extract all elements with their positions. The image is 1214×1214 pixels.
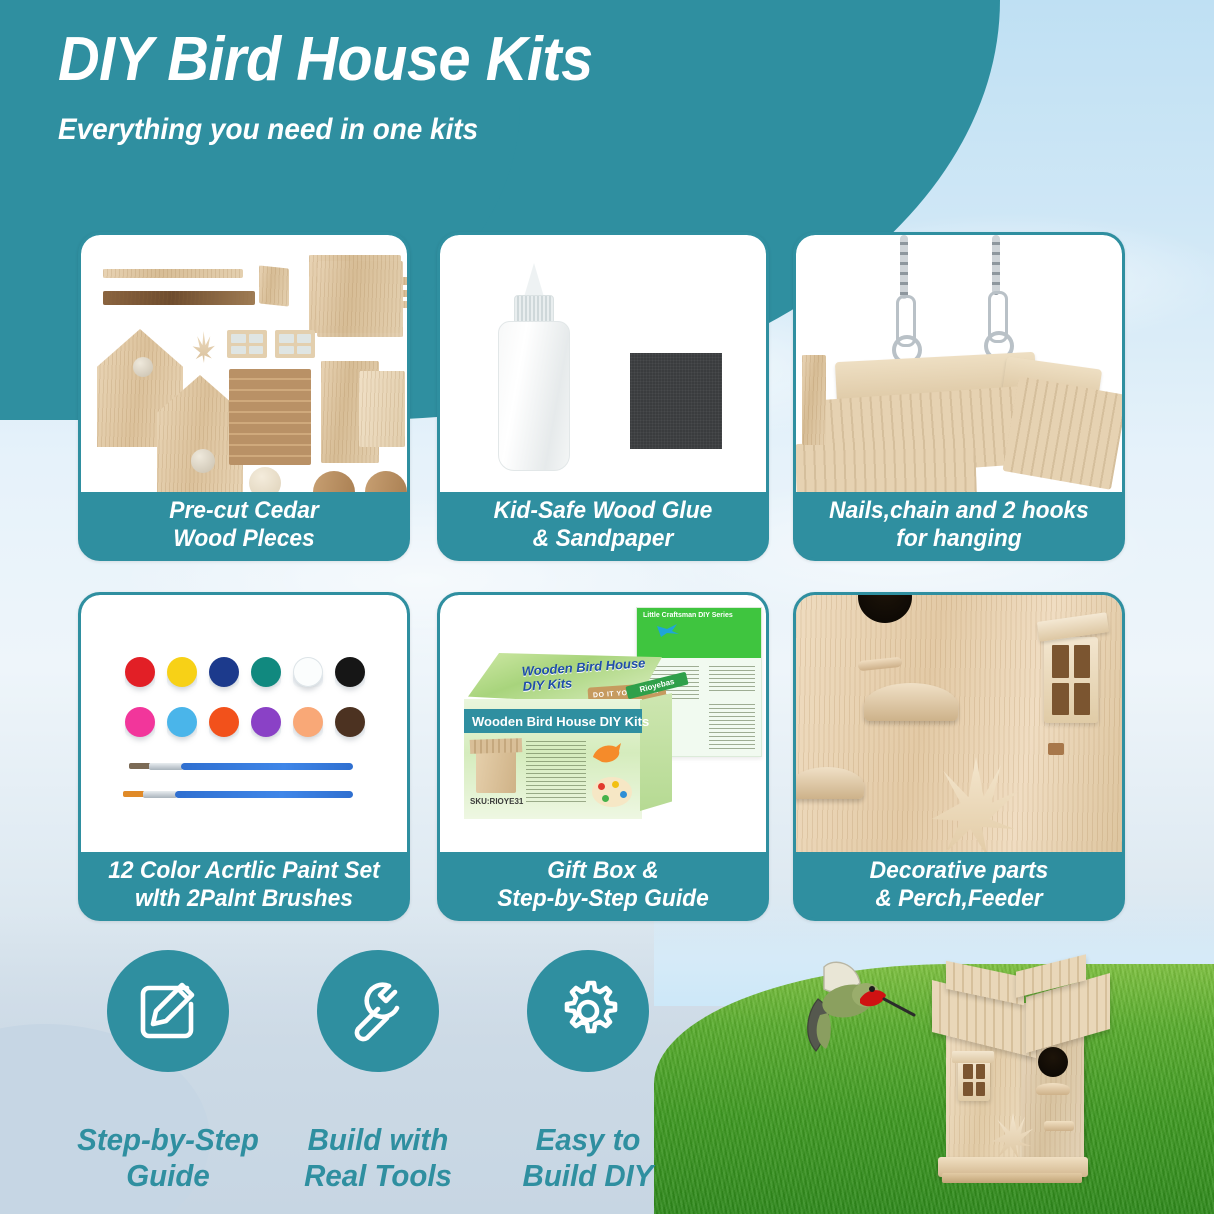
card-photo-glue xyxy=(440,235,766,492)
caption-line-2: for hanging xyxy=(896,525,1021,553)
feature-label-line-2: Real Tools xyxy=(264,1158,492,1194)
caption-line-2: & Sandpaper xyxy=(533,525,674,553)
feature-label-build-with-real-tools: Build with Real Tools xyxy=(264,1122,492,1194)
feature-label-line-2: Guide xyxy=(54,1158,282,1194)
hummingbird-icon xyxy=(655,622,681,638)
paint-pot xyxy=(293,707,323,737)
feature-card-chain-hooks[interactable]: Nails,chain and 2 hooks for hanging xyxy=(793,232,1125,561)
wrench-icon xyxy=(345,978,411,1044)
brush-tip-2 xyxy=(123,791,145,797)
hummingbird xyxy=(790,955,920,1075)
infographic-canvas: DIY Bird House Kits Everything you need … xyxy=(0,0,1214,1214)
sandpaper-square xyxy=(630,353,722,449)
feature-card-wood-pieces[interactable]: Pre-cut Cedar Wood Pleces xyxy=(78,232,410,561)
paint-pot xyxy=(209,657,239,687)
feature-label-line-1: Build with xyxy=(264,1122,492,1158)
caption-line-1: Decorative parts xyxy=(870,857,1049,885)
feature-card-gift-box[interactable]: Little Craftsman DIY Series Wooden Bird … xyxy=(437,592,769,921)
sheet-header-text: Little Craftsman DIY Series xyxy=(643,612,733,619)
card-photo-wood-pieces xyxy=(81,235,407,492)
card-photo-paint-set xyxy=(81,595,407,852)
paint-pot xyxy=(167,707,197,737)
caption-line-1: Nails,chain and 2 hooks xyxy=(829,497,1089,525)
sheet-header-band: Little Craftsman DIY Series xyxy=(637,608,761,658)
paint-pot xyxy=(251,707,281,737)
glue-nozzle-icon xyxy=(524,263,544,297)
feature-card-decorative-parts[interactable]: Decorative parts & Perch,Feeder xyxy=(793,592,1125,921)
glue-bottle xyxy=(498,321,570,471)
roof-panel-lower xyxy=(796,438,977,492)
paint-pot xyxy=(125,707,155,737)
chain-left xyxy=(900,235,908,299)
paint-brush-2 xyxy=(175,791,353,798)
feature-icon-circle-step-by-step-guide[interactable] xyxy=(107,950,229,1072)
caption-line-1: 12 Color Acrtlic Paint Set xyxy=(108,857,380,885)
feature-label-step-by-step-guide: Step-by-Step Guide xyxy=(54,1122,282,1194)
gear-icon xyxy=(554,977,622,1045)
gift-box-side xyxy=(640,693,672,811)
bird-house-perch xyxy=(1036,1083,1070,1095)
card-caption-decorative-parts: Decorative parts & Perch,Feeder xyxy=(804,852,1114,918)
caption-line-1: Pre-cut Cedar xyxy=(169,497,319,525)
caption-line-2: Step-by-Step Guide xyxy=(497,885,709,913)
page-subtitle: Everything you need in one kits xyxy=(58,113,478,147)
caption-line-2: Wood Pleces xyxy=(173,525,314,553)
brush-ferrule-1 xyxy=(149,763,183,770)
card-caption-chain: Nails,chain and 2 hooks for hanging xyxy=(804,492,1114,558)
card-photo-chain xyxy=(796,235,1122,492)
feature-label-line-1: Easy to xyxy=(474,1122,702,1158)
caption-line-2: wlth 2Palnt Brushes xyxy=(135,885,353,913)
paint-pot xyxy=(125,657,155,687)
page-title: DIY Bird House Kits xyxy=(58,28,593,91)
window-sill xyxy=(1048,743,1064,755)
paint-pot xyxy=(335,657,365,687)
caption-line-2: & Perch,Feeder xyxy=(875,885,1042,913)
paint-pot xyxy=(251,657,281,687)
paint-pot xyxy=(335,707,365,737)
caption-line-1: Kid-Safe Wood Glue xyxy=(494,497,713,525)
feature-label-line-1: Step-by-Step xyxy=(54,1122,282,1158)
roof-panel-right xyxy=(1003,376,1122,490)
card-caption-paint-set: 12 Color Acrtlic Paint Set wlth 2Palnt B… xyxy=(89,852,399,918)
decorative-window xyxy=(1044,637,1098,723)
bird-house-base xyxy=(942,1173,1082,1183)
bird-house-entry-hole xyxy=(1038,1047,1068,1077)
gift-box-sku: SKU:RIOYE31 xyxy=(470,797,523,806)
assembled-bird-house xyxy=(930,955,1110,1205)
bird-motif-icon xyxy=(590,741,624,767)
feature-icon-circle-easy-to-build-diy[interactable] xyxy=(527,950,649,1072)
bird-house-window xyxy=(958,1059,990,1101)
chain-right xyxy=(992,235,1000,295)
card-caption-wood-pieces: Pre-cut Cedar Wood Pleces xyxy=(89,492,399,558)
caption-line-1: Gift Box & xyxy=(547,857,658,885)
paint-brush-1 xyxy=(181,763,353,770)
perch-shelf xyxy=(864,683,958,721)
feature-card-glue-sandpaper[interactable]: Kid-Safe Wood Glue & Sandpaper xyxy=(437,232,769,561)
bird-house-window-awning xyxy=(952,1051,994,1063)
feature-icon-circle-build-with-real-tools[interactable] xyxy=(317,950,439,1072)
card-photo-gift-box: Little Craftsman DIY Series Wooden Bird … xyxy=(440,595,766,852)
bird-house-perch-lower xyxy=(1044,1121,1074,1131)
feature-card-paint-set[interactable]: 12 Color Acrtlic Paint Set wlth 2Palnt B… xyxy=(78,592,410,921)
paint-pot xyxy=(293,657,323,687)
brush-tip-1 xyxy=(129,763,151,769)
gift-box-front-band: Wooden Bird House DIY Kits xyxy=(464,709,642,733)
paint-pot xyxy=(209,707,239,737)
feature-label-easy-to-build-diy: Easy to Build DIY xyxy=(474,1122,702,1194)
paint-pot xyxy=(167,657,197,687)
card-photo-decorative-parts xyxy=(796,595,1122,852)
feature-label-line-2: Build DIY xyxy=(474,1158,702,1194)
pencil-square-icon xyxy=(135,978,201,1044)
card-caption-glue: Kid-Safe Wood Glue & Sandpaper xyxy=(448,492,758,558)
card-caption-gift-box: Gift Box & Step-by-Step Guide xyxy=(448,852,758,918)
brush-ferrule-2 xyxy=(143,791,177,798)
